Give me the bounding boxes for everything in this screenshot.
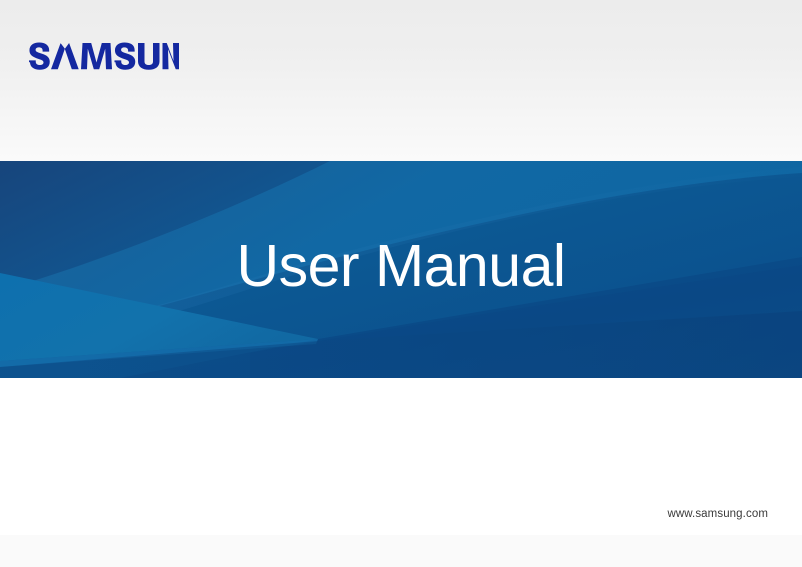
page-title: User Manual xyxy=(0,161,802,378)
manual-cover-page: SAMSUNG xyxy=(0,0,802,567)
samsung-wordmark-icon: SAMSUNG xyxy=(29,42,179,72)
page-header: SAMSUNG xyxy=(0,0,802,161)
page-footer xyxy=(0,535,802,567)
website-url[interactable]: www.samsung.com xyxy=(667,509,768,521)
hero-banner: User Manual xyxy=(0,161,802,378)
